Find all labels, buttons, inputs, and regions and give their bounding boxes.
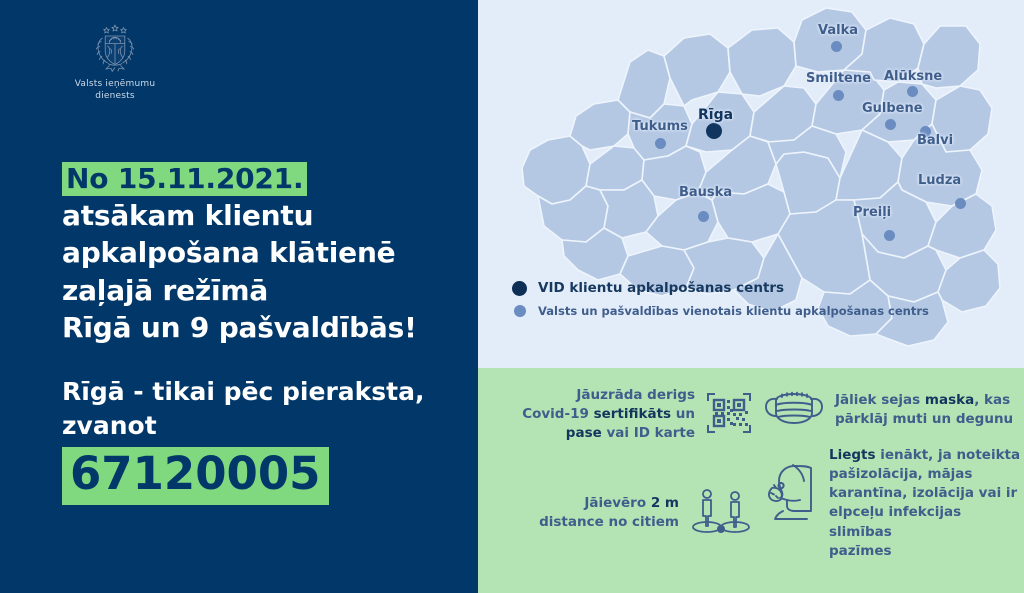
rule-no-entry: Liegts ienākt, ja noteiktapašizolācija, …	[763, 446, 1021, 561]
rule-text-line: Liegts ienākt, ja noteikta	[829, 446, 1021, 465]
headline: No 15.11.2021. atsākam klientu apkalpoša…	[62, 160, 462, 346]
rule-certificate: Jāuzrāda derigsCovid-19 sertifikāts unpa…	[488, 386, 753, 443]
map-dot-preiļi[interactable]	[884, 230, 895, 241]
rule-text-line: pašizolācija, mājas	[829, 465, 1021, 484]
rule-mask: Jāliek sejas maska, kaspārklāj muti un d…	[763, 386, 1018, 434]
map-dot-rīga[interactable]	[706, 123, 722, 139]
map-label-preiļi: Preiļi	[853, 205, 891, 220]
map-label-balvi: Balvi	[917, 133, 953, 148]
rule-text-line: Covid-19 sertifikāts un	[522, 405, 695, 424]
headline-line-4-text: zaļajā režīmā	[62, 274, 268, 307]
organisation-name-line1: Valsts ieņēmumu	[55, 78, 175, 90]
legend-row-vid-centre: VID klientu apkalpošanas centrs	[512, 280, 1012, 296]
rule-distance-text: Jāievēro 2 mdistance no citiem	[539, 494, 679, 532]
headline-green-regime-underline: zaļajā režīmā	[62, 272, 284, 309]
legend-label-vid-centre: VID klientu apkalpošanas centrs	[538, 280, 784, 296]
legend-label-joint-centre: Valsts un pašvaldības vienotais klientu …	[538, 304, 929, 318]
left-navy-panel: Valsts ieņēmumu dienests No 15.11.2021. …	[0, 0, 478, 593]
latvia-coat-of-arms-icon	[93, 22, 137, 74]
headline-line-4: zaļajā režīmā	[62, 272, 462, 309]
legend-major-dot-icon	[512, 281, 527, 296]
map-dot-alūksne[interactable]	[907, 86, 918, 97]
rule-no-entry-text: Liegts ienākt, ja noteiktapašizolācija, …	[829, 446, 1021, 561]
appointment-note-line-1: Rīgā - tikai pēc pieraksta,	[62, 375, 462, 409]
rule-mask-text: Jāliek sejas maska, kaspārklāj muti un d…	[835, 391, 1013, 429]
map-dot-valka[interactable]	[831, 41, 842, 52]
map-dot-smiltene[interactable]	[833, 90, 844, 101]
headline-date-highlight: No 15.11.2021.	[62, 162, 307, 196]
rule-text-line: elpceļu infekcijas slimības	[829, 503, 1021, 541]
map-dot-bauska[interactable]	[698, 211, 709, 222]
map-dot-tukums[interactable]	[655, 138, 666, 149]
map-dot-ludza[interactable]	[955, 198, 966, 209]
map-label-ludza: Ludza	[918, 173, 961, 188]
rule-text-line: Jāievēro 2 m	[539, 494, 679, 513]
legend-minor-dot-icon	[514, 305, 526, 317]
appointment-note: Rīgā - tikai pēc pieraksta, zvanot	[62, 375, 462, 443]
map-label-bauska: Bauska	[679, 185, 732, 200]
headline-line-5: Rīgā un 9 pašvaldībās!	[62, 309, 462, 346]
two-people-distance-icon	[689, 486, 753, 540]
map-legend: VID klientu apkalpošanas centrs Valsts u…	[512, 280, 1012, 326]
rule-distance: Jāievēro 2 mdistance no citiem	[488, 486, 753, 540]
rule-text-line: distance no citiem	[539, 513, 679, 532]
rule-certificate-text: Jāuzrāda derigsCovid-19 sertifikāts unpa…	[522, 386, 695, 443]
headline-line-1: No 15.11.2021.	[62, 160, 462, 197]
map-label-valka: Valka	[818, 23, 858, 38]
map-label-smiltene: Smiltene	[806, 71, 871, 86]
rule-text-line: Jāuzrāda derigs	[522, 386, 695, 405]
map-label-gulbene: Gulbene	[862, 101, 923, 116]
poster: Valsts ieņēmumu dienests No 15.11.2021. …	[0, 0, 1024, 593]
headline-line-2: atsākam klientu	[62, 197, 462, 234]
rules-panel: Jāuzrāda derigsCovid-19 sertifikāts unpa…	[478, 368, 1024, 593]
organisation-name-line2: dienests	[55, 90, 175, 102]
phone-number[interactable]: 67120005	[62, 447, 329, 505]
map-label-alūksne: Alūksne	[884, 69, 942, 84]
rule-text-line: pazīmes	[829, 542, 1021, 561]
legend-row-joint-centre: Valsts un pašvaldības vienotais klientu …	[512, 304, 1012, 318]
map-dot-gulbene[interactable]	[885, 119, 896, 130]
rule-text-line: Jāliek sejas maska, kas	[835, 391, 1013, 410]
vid-logo: Valsts ieņēmumu dienests	[55, 22, 175, 102]
headline-line-3: apkalpošana klātienē	[62, 234, 462, 271]
map-label-tukums: Tukums	[632, 119, 688, 134]
appointment-note-line-2: zvanot	[62, 409, 462, 443]
qr-code-icon	[705, 389, 753, 441]
sick-person-icon	[763, 460, 821, 524]
map-label-rīga: Rīga	[698, 107, 733, 123]
rule-text-line: pase vai ID karte	[522, 424, 695, 443]
rule-text-line: karantīna, izolācija vai ir	[829, 484, 1021, 503]
rule-text-line: pārklāj muti un degunu	[835, 410, 1013, 429]
organisation-name: Valsts ieņēmumu dienests	[55, 78, 175, 102]
face-mask-icon	[763, 386, 825, 434]
